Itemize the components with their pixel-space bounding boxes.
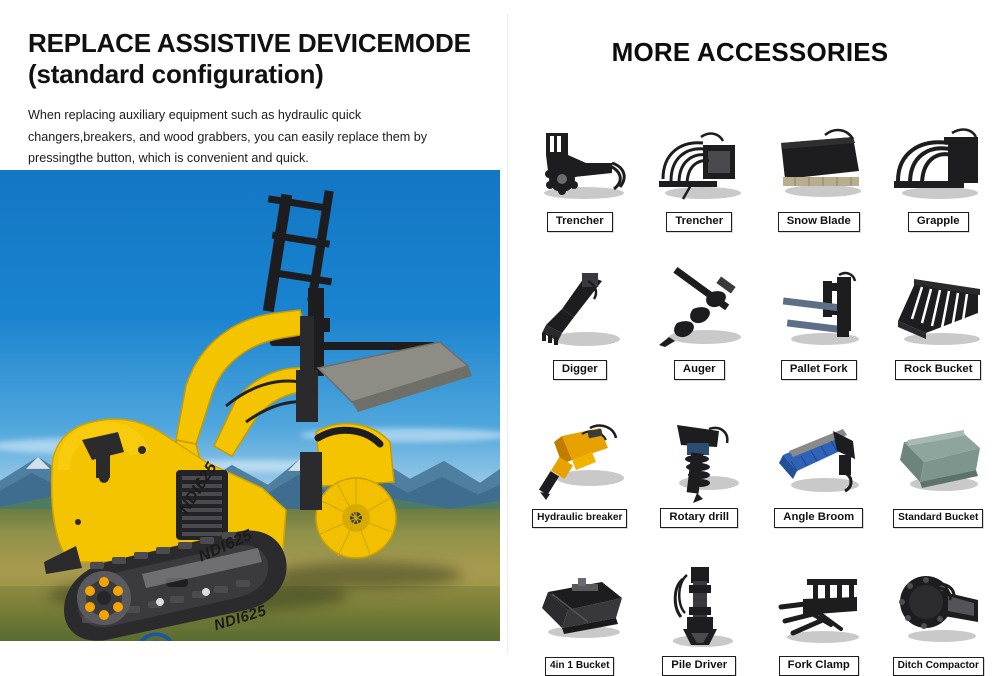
accessories-grid: Trencher Trencher Snow Blade Grapple Dig… xyxy=(520,92,998,676)
standard-bucket-icon xyxy=(886,416,990,504)
attachment-coupler xyxy=(296,370,318,422)
page-title: REPLACE ASSISTIVE DEVICEMODE (standard c… xyxy=(28,28,498,89)
accessories-title: MORE ACCESSORIES xyxy=(510,37,990,68)
panel-divider xyxy=(507,14,508,654)
accessory-label: Angle Broom xyxy=(774,508,863,528)
accessory-card-fork-clamp[interactable]: Fork Clamp xyxy=(759,536,879,676)
page-root: REPLACE ASSISTIVE DEVICEMODE (standard c… xyxy=(0,0,1000,667)
grapple-icon xyxy=(886,119,990,207)
rotary-drill-icon xyxy=(647,415,751,503)
accessory-label: Pile Driver xyxy=(662,656,736,676)
accessory-card-auger[interactable]: Auger xyxy=(640,240,760,380)
hero-photo: NDI625 NDI625 NDI625 RIPPA xyxy=(0,170,500,641)
accessory-card-four-in-one-bucket[interactable]: 4in 1 Bucket xyxy=(520,536,640,676)
accessory-label: Rock Bucket xyxy=(895,360,981,380)
accessory-card-grapple[interactable]: Grapple xyxy=(879,92,999,232)
pile-driver-icon xyxy=(647,563,751,651)
accessory-card-digger[interactable]: Digger xyxy=(520,240,640,380)
trencher-b-icon xyxy=(647,119,751,207)
fork-clamp-icon xyxy=(767,563,871,651)
accessory-label: Auger xyxy=(674,360,725,380)
accessory-card-angle-broom[interactable]: Angle Broom xyxy=(759,388,879,528)
body-bolt xyxy=(75,519,81,525)
digger-icon xyxy=(528,267,632,355)
auger-icon xyxy=(647,267,751,355)
accessory-label: Trencher xyxy=(547,212,613,232)
right-panel: MORE ACCESSORIES Trencher Trencher Snow … xyxy=(510,0,1000,667)
broom-attachment xyxy=(300,424,396,558)
four-in-one-bucket-icon xyxy=(528,564,632,652)
accessory-label: Rotary drill xyxy=(660,508,738,528)
left-panel: REPLACE ASSISTIVE DEVICEMODE (standard c… xyxy=(0,0,505,667)
skid-steer-loader xyxy=(0,170,500,641)
accessory-card-rotary-drill[interactable]: Rotary drill xyxy=(640,388,760,528)
page-title-line-2: (standard configuration) xyxy=(28,59,498,90)
accessory-label: Grapple xyxy=(908,212,969,232)
description-text: When replacing auxiliary equipment such … xyxy=(28,105,428,170)
rippa-logo-icon xyxy=(134,632,178,641)
angle-broom-icon xyxy=(767,415,871,503)
accessory-card-trencher-b[interactable]: Trencher xyxy=(640,92,760,232)
pallet-fork-icon xyxy=(767,267,871,355)
trencher-a-icon xyxy=(528,119,632,207)
accessory-card-snow-blade[interactable]: Snow Blade xyxy=(759,92,879,232)
body-bolt xyxy=(138,446,146,454)
accessory-label: Pallet Fork xyxy=(781,360,857,380)
ditch-compactor-icon xyxy=(886,564,990,652)
accessory-label: Hydraulic breaker xyxy=(532,509,627,528)
page-title-line-1: REPLACE ASSISTIVE DEVICEMODE xyxy=(28,28,471,58)
accessory-label: Snow Blade xyxy=(778,212,860,232)
accessory-label: Digger xyxy=(553,360,607,380)
accessory-card-pile-driver[interactable]: Pile Driver xyxy=(640,536,760,676)
accessory-card-standard-bucket[interactable]: Standard Bucket xyxy=(879,388,999,528)
accessory-label: Standard Bucket xyxy=(893,509,983,528)
snow-blade-icon xyxy=(767,119,871,207)
accessory-card-trencher-a[interactable]: Trencher xyxy=(520,92,640,232)
accessory-card-rock-bucket[interactable]: Rock Bucket xyxy=(879,240,999,380)
brand-mark: RIPPA xyxy=(118,632,194,641)
rock-bucket-icon xyxy=(886,267,990,355)
hydraulic-breaker-icon xyxy=(528,416,632,504)
accessory-card-ditch-compactor[interactable]: Ditch Compactor xyxy=(879,536,999,676)
accessory-label: Fork Clamp xyxy=(779,656,859,676)
accessory-label: Trencher xyxy=(666,212,732,232)
accessory-card-hydraulic-breaker[interactable]: Hydraulic breaker xyxy=(520,388,640,528)
accessory-card-pallet-fork[interactable]: Pallet Fork xyxy=(759,240,879,380)
